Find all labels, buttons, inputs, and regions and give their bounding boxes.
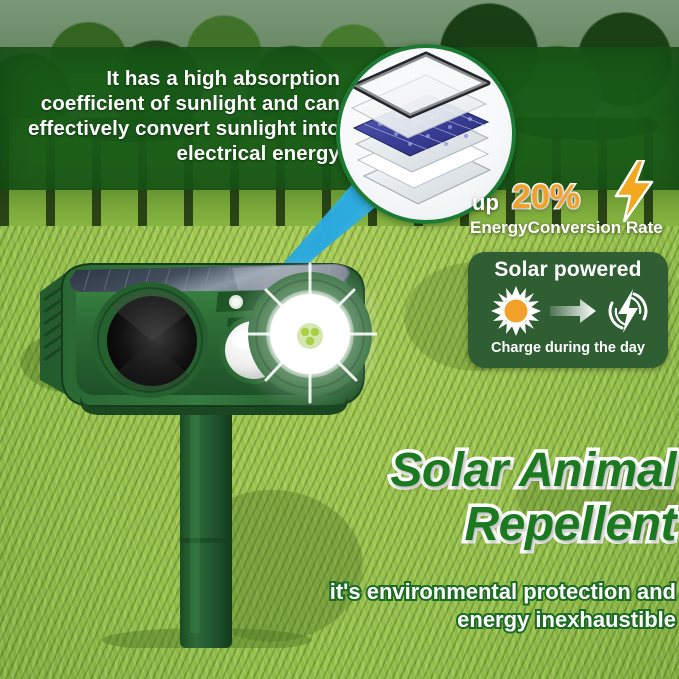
sun-icon	[491, 286, 541, 336]
solar-powered-icon-row	[468, 286, 668, 336]
page-title: Solar Animal Repellent	[278, 444, 676, 552]
efficiency-caption: EnergyConversion Rate	[470, 218, 663, 238]
headline-line-4: electrical energy	[10, 141, 340, 166]
efficiency-value: 20%	[512, 178, 580, 217]
lightning-bolt-icon	[610, 160, 656, 222]
arrow-right-icon	[550, 299, 596, 323]
solar-powered-subtitle: Charge during the day	[468, 340, 668, 356]
efficiency-badge: up 20% EnergyConversion Rate	[470, 178, 670, 244]
headline-line-3: effectively convert sunlight into	[10, 116, 340, 141]
headline-text: It has a high absorption coefficient of …	[10, 66, 340, 166]
lightning-bolt-circle-icon	[610, 289, 646, 333]
headline-line-2: coefficient of sunlight and can	[10, 91, 340, 116]
solar-powered-card: Solar powered	[468, 252, 668, 368]
title-line-2: Repellent	[278, 498, 676, 552]
tagline-line-2: energy inexhaustible	[258, 606, 676, 634]
tagline-line-1: it's environmental protection and	[330, 579, 676, 604]
efficiency-prefix: up	[472, 190, 499, 216]
product-marketing-image: It has a high absorption coefficient of …	[0, 0, 679, 679]
solar-powered-title: Solar powered	[468, 258, 668, 282]
page-tagline: it's environmental protection and energy…	[258, 578, 676, 634]
device-body	[40, 254, 377, 415]
ultrasonic-speaker	[92, 282, 208, 398]
headline-line-1: It has a high absorption	[10, 66, 340, 91]
ground-stake	[180, 391, 232, 648]
title-line-1: Solar Animal	[390, 444, 676, 497]
